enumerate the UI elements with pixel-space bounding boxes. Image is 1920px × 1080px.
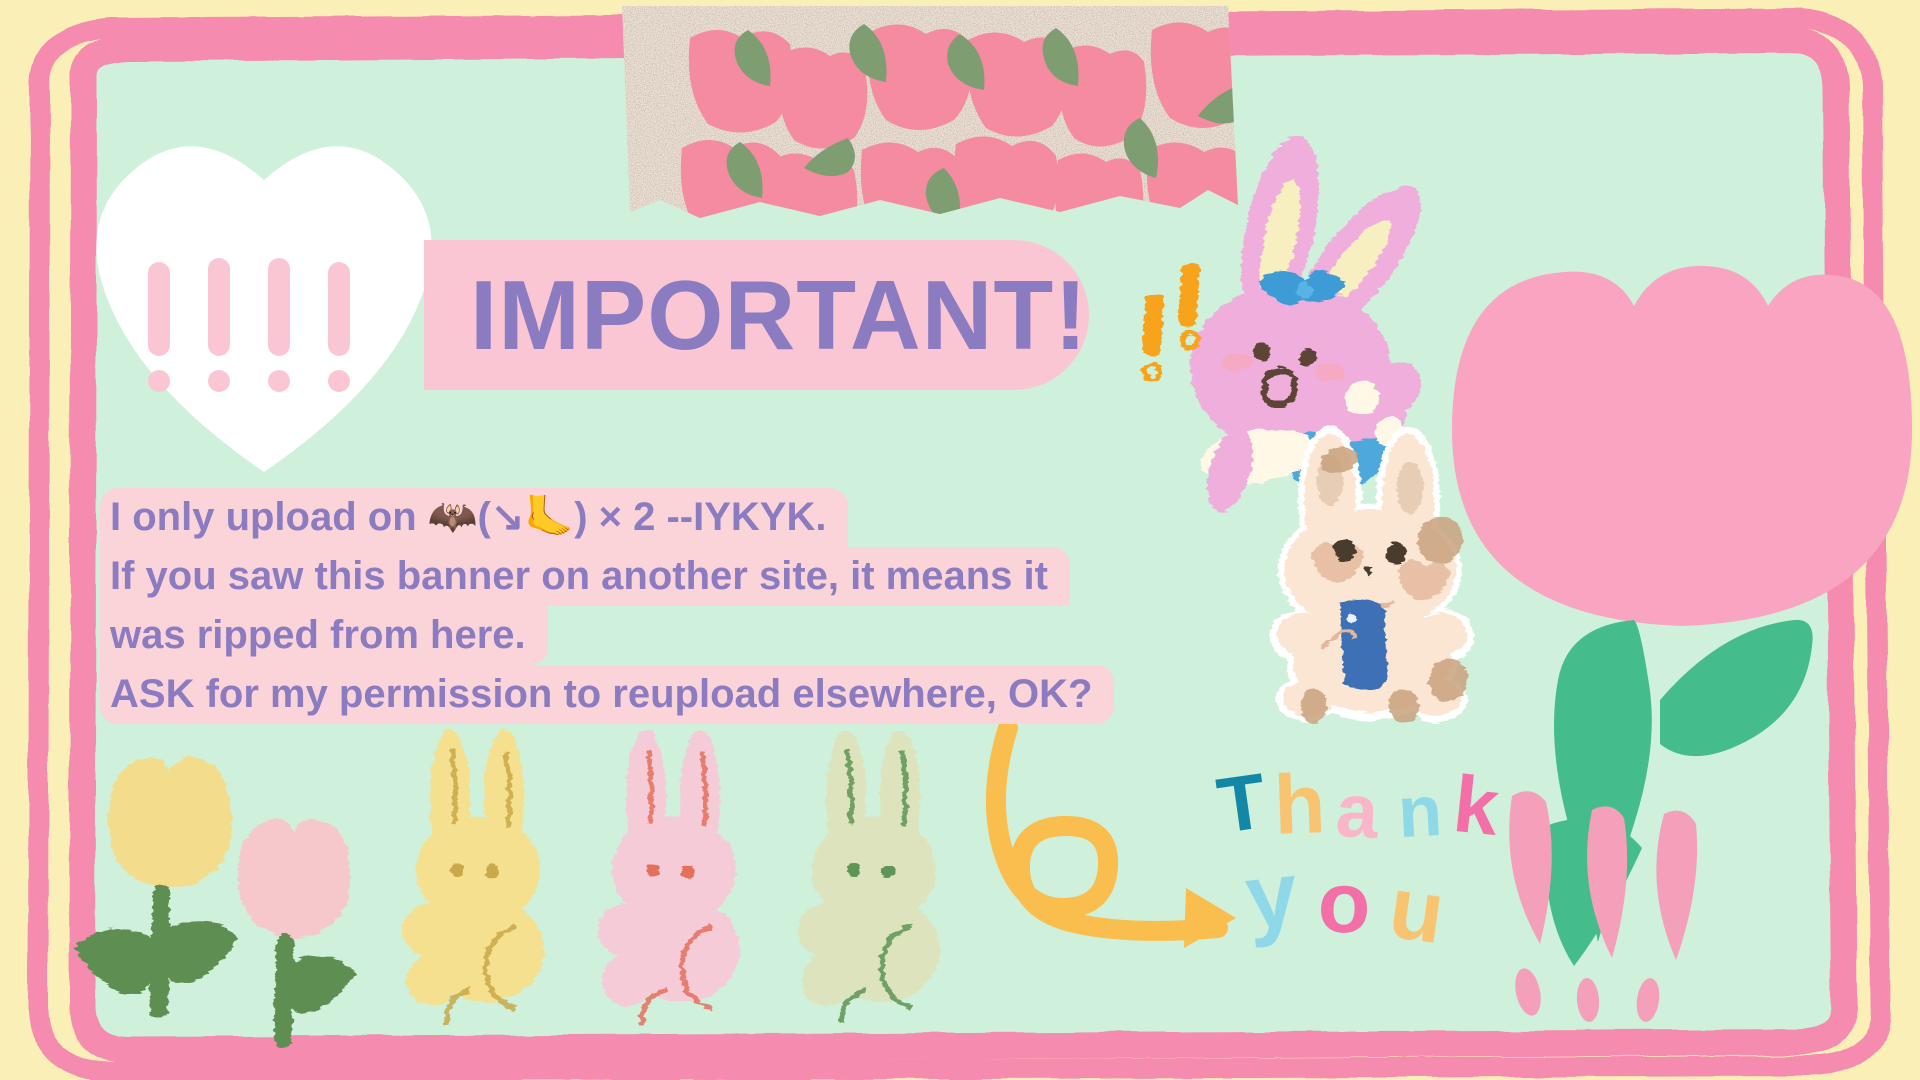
thank-you-letter: u [1384,863,1449,958]
thank-you-lettering: Thankyou [1218,762,1528,967]
message-block: I only upload on 🦇(↘🦶) × 2 --IYKYK. If y… [100,488,1210,724]
thank-you-letter: h [1273,761,1327,847]
thank-you-letter: T [1213,761,1271,845]
message-line: If you saw this banner on another site, … [100,547,1070,606]
message-line: was ripped from here. [100,606,548,665]
thank-you-letter: k [1450,764,1503,848]
message-row: was ripped from here. [100,606,1210,665]
page-title: IMPORTANT! [470,258,1090,373]
thank-you-letter: n [1396,775,1444,849]
message-row: ASK for my permission to reupload elsewh… [100,665,1210,724]
thank-you-letter: a [1334,773,1380,851]
message-row: If you saw this banner on another site, … [100,547,1210,606]
message-row: I only upload on 🦇(↘🦶) × 2 --IYKYK. [100,488,1210,547]
message-line: ASK for my permission to reupload elsewh… [100,665,1114,724]
thank-you-letter: o [1317,859,1373,947]
thank-you-letter: y [1241,848,1302,945]
message-line: I only upload on 🦇(↘🦶) × 2 --IYKYK. [100,488,848,547]
banner-canvas: IMPORTANT! I only upload on 🦇(↘🦶) × 2 --… [0,0,1920,1080]
